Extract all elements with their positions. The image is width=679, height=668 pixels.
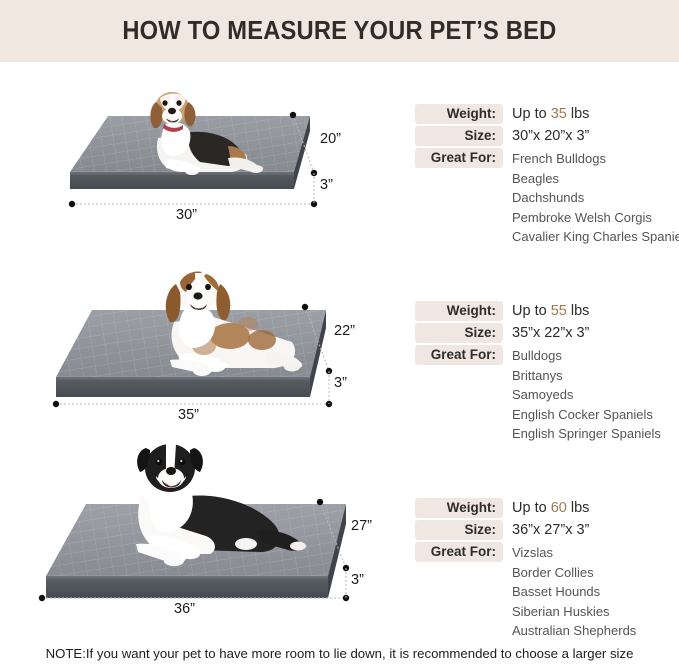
weight-label: Weight: (415, 498, 503, 518)
dimension-lines-large (0, 440, 400, 615)
breed-item: Siberian Huskies (512, 602, 636, 622)
dimension-depth-medium: 22” (334, 323, 355, 339)
weight-row: Weight: Up to 55 lbs (415, 301, 661, 321)
breed-item: French Bulldogs (503, 148, 606, 169)
great-for-row: Great For: Vizslas (415, 542, 636, 563)
breed-list: Beagles Dachshunds Pembroke Welsh Corgis… (415, 169, 679, 247)
breed-item: Australian Shepherds (512, 621, 636, 641)
weight-value: Up to 60 lbs (503, 498, 589, 518)
info-panel-medium: Weight: Up to 55 lbs Size: 35”x 22”x 3” … (415, 301, 661, 444)
breed-item: Dachshunds (512, 188, 679, 208)
weight-value: Up to 35 lbs (503, 104, 589, 124)
size-section-medium: 35” 22” 3” Weight: Up to 55 lbs Size: 35… (0, 268, 679, 428)
size-row: Size: 30”x 20”x 3” (415, 126, 679, 146)
dimension-lines-medium (0, 268, 400, 428)
dimension-width-small: 30” (176, 207, 197, 223)
size-label: Size: (415, 323, 503, 343)
weight-suffix: lbs (571, 106, 590, 122)
great-for-row: Great For: French Bulldogs (415, 148, 679, 169)
size-section-large: 36” 27” 3” Weight: Up to 60 lbs Size: 36… (0, 440, 679, 615)
dimension-depth-large: 27” (351, 518, 372, 534)
great-for-row: Great For: Bulldogs (415, 345, 661, 366)
breed-list: Brittanys Samoyeds English Cocker Spanie… (415, 366, 661, 444)
breed-item: Border Collies (512, 563, 636, 583)
weight-label: Weight: (415, 301, 503, 321)
footer-note: NOTE:If you want your pet to have more r… (0, 646, 679, 661)
breed-item: Basset Hounds (512, 582, 636, 602)
breed-item: Pembroke Welsh Corgis (512, 208, 679, 228)
info-panel-large: Weight: Up to 60 lbs Size: 36”x 27”x 3” … (415, 498, 636, 641)
dimension-height-medium: 3” (334, 375, 347, 391)
weight-row: Weight: Up to 35 lbs (415, 104, 679, 124)
size-label: Size: (415, 520, 503, 540)
size-section-small: 30” 20” 3” Weight: Up to 35 lbs Size: 30… (0, 86, 679, 236)
weight-row: Weight: Up to 60 lbs (415, 498, 636, 518)
size-value: 35”x 22”x 3” (503, 323, 589, 343)
breed-item: Beagles (512, 169, 679, 189)
weight-prefix: Up to (512, 303, 547, 319)
breed-item: Brittanys (512, 366, 661, 386)
breed-item: Vizslas (503, 542, 553, 563)
great-for-label: Great For: (415, 345, 503, 365)
weight-suffix: lbs (571, 303, 590, 319)
weight-value: Up to 55 lbs (503, 301, 589, 321)
size-value: 36”x 27”x 3” (503, 520, 589, 540)
weight-suffix: lbs (571, 500, 590, 516)
weight-prefix: Up to (512, 500, 547, 516)
weight-number: 55 (551, 303, 567, 319)
page-title: HOW TO MEASURE YOUR PET’S BED (122, 17, 556, 46)
dimension-width-large: 36” (174, 601, 195, 617)
weight-prefix: Up to (512, 106, 547, 122)
dimension-lines-small (0, 86, 400, 236)
page-header: HOW TO MEASURE YOUR PET’S BED (0, 0, 679, 62)
dimension-width-medium: 35” (178, 407, 199, 423)
size-value: 30”x 20”x 3” (503, 126, 589, 146)
weight-number: 60 (551, 500, 567, 516)
dimension-height-large: 3” (351, 572, 364, 588)
great-for-label: Great For: (415, 148, 503, 168)
size-row: Size: 36”x 27”x 3” (415, 520, 636, 540)
breed-list: Border Collies Basset Hounds Siberian Hu… (415, 563, 636, 641)
weight-label: Weight: (415, 104, 503, 124)
size-row: Size: 35”x 22”x 3” (415, 323, 661, 343)
breed-item: English Cocker Spaniels (512, 405, 661, 425)
size-label: Size: (415, 126, 503, 146)
dimension-height-small: 3” (320, 177, 333, 193)
great-for-label: Great For: (415, 542, 503, 562)
breed-item: Cavalier King Charles Spaniels (512, 227, 679, 247)
breed-item: Samoyeds (512, 385, 661, 405)
breed-item: Bulldogs (503, 345, 562, 366)
dimension-depth-small: 20” (320, 131, 341, 147)
weight-number: 35 (551, 106, 567, 122)
info-panel-small: Weight: Up to 35 lbs Size: 30”x 20”x 3” … (415, 104, 679, 247)
